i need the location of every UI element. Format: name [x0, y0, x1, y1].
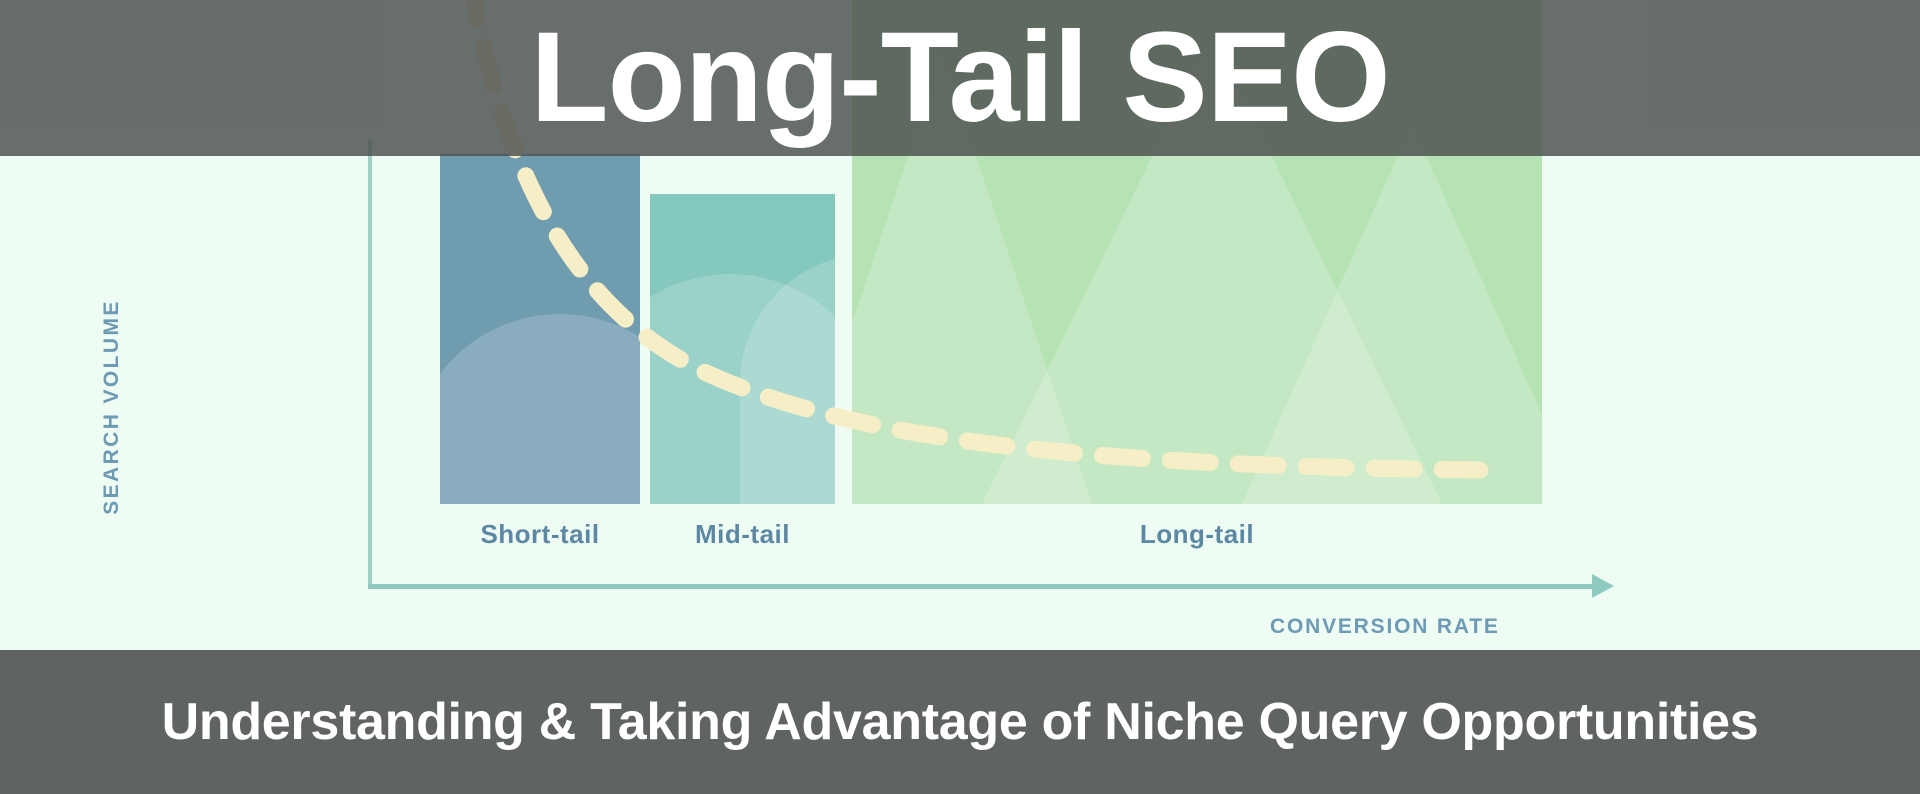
segment-label-mid-tail: Mid-tail — [650, 519, 835, 550]
x-axis-arrow-icon — [1592, 574, 1614, 598]
page-subtitle: Understanding & Taking Advantage of Nich… — [162, 692, 1759, 752]
x-axis-line — [368, 584, 1598, 589]
segment-label-short-tail: Short-tail — [440, 519, 640, 550]
bar-mid-tail — [650, 194, 835, 504]
header-banner: Long-Tail SEO — [0, 0, 1920, 156]
y-axis-label: SEARCH VOLUME — [100, 267, 124, 547]
y-axis-line — [368, 140, 372, 588]
bar-wave-decor — [650, 274, 835, 504]
infographic-canvas: SEARCH VOLUME CONVERSION RATE Short-tail… — [0, 0, 1920, 794]
bar-wave-decor — [740, 254, 835, 504]
bar-wave-decor — [440, 314, 640, 504]
footer-banner: Understanding & Taking Advantage of Nich… — [0, 650, 1920, 794]
segment-label-long-tail: Long-tail — [852, 519, 1542, 550]
page-title: Long-Tail SEO — [530, 14, 1389, 142]
bar-short-tail — [440, 154, 640, 504]
x-axis-label: CONVERSION RATE — [1270, 615, 1500, 639]
